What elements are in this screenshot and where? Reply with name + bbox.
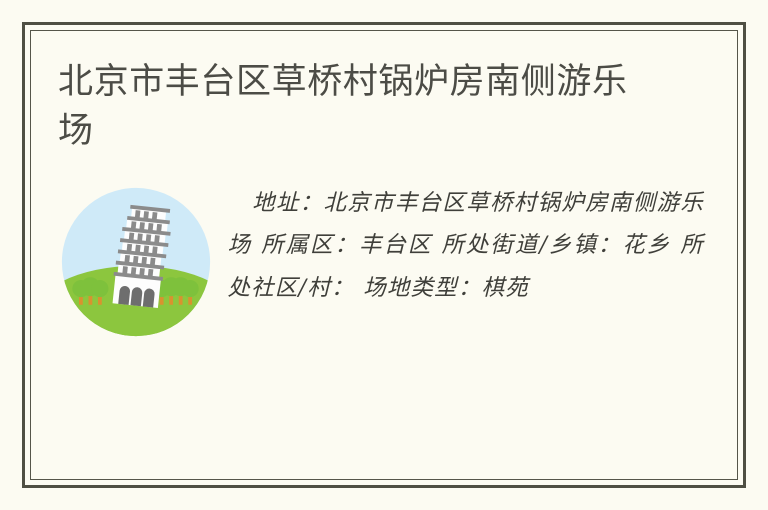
venue-info-card: 北京市丰台区草桥村锅炉房南侧游乐场 [30, 30, 738, 480]
page-title: 北京市丰台区草桥村锅炉房南侧游乐场 [58, 58, 633, 156]
leaning-tower-of-pisa-icon [60, 186, 212, 338]
